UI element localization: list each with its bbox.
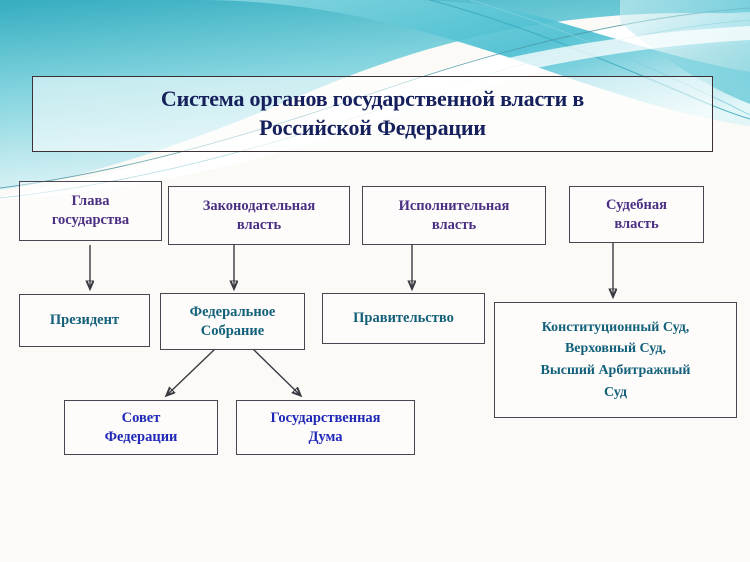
node-federation-council[interactable]: Совет Федерации <box>64 400 218 455</box>
node-judicial-power-label: Судебная власть <box>606 196 667 233</box>
node-legislative-power-label: Законодательная власть <box>203 197 316 234</box>
node-head-of-state-label: Глава государства <box>52 192 129 229</box>
node-federal-assembly-label: Федеральное Собрание <box>190 303 276 340</box>
node-executive-power-label: Исполнительная власть <box>399 197 510 234</box>
node-state-duma[interactable]: Государственная Дума <box>236 400 415 455</box>
connector-federal-assembly-to-federation-council <box>167 349 215 395</box>
node-head-of-state[interactable]: Глава государства <box>19 181 162 241</box>
slide-title-frame: Система органов государственной власти в… <box>32 76 713 152</box>
node-federation-council-label: Совет Федерации <box>105 409 178 446</box>
node-legislative-power[interactable]: Законодательная власть <box>168 186 350 245</box>
page-title: Система органов государственной власти в… <box>161 85 584 142</box>
node-executive-power[interactable]: Исполнительная власть <box>362 186 546 245</box>
node-supreme-courts[interactable]: Конституционный Суд, Верховный Суд, Высш… <box>494 302 737 418</box>
slide-canvas: Система органов государственной власти в… <box>0 0 750 562</box>
node-government[interactable]: Правительство <box>322 293 485 344</box>
node-judicial-power[interactable]: Судебная власть <box>569 186 704 243</box>
connector-federal-assembly-to-state-duma <box>253 349 300 395</box>
node-government-label: Правительство <box>353 309 454 328</box>
node-president-label: Президент <box>50 311 119 330</box>
node-supreme-courts-label: Конституционный Суд, Верховный Суд, Высш… <box>541 317 691 404</box>
node-federal-assembly[interactable]: Федеральное Собрание <box>160 293 305 350</box>
node-president[interactable]: Президент <box>19 294 150 347</box>
node-state-duma-label: Государственная Дума <box>270 409 380 446</box>
